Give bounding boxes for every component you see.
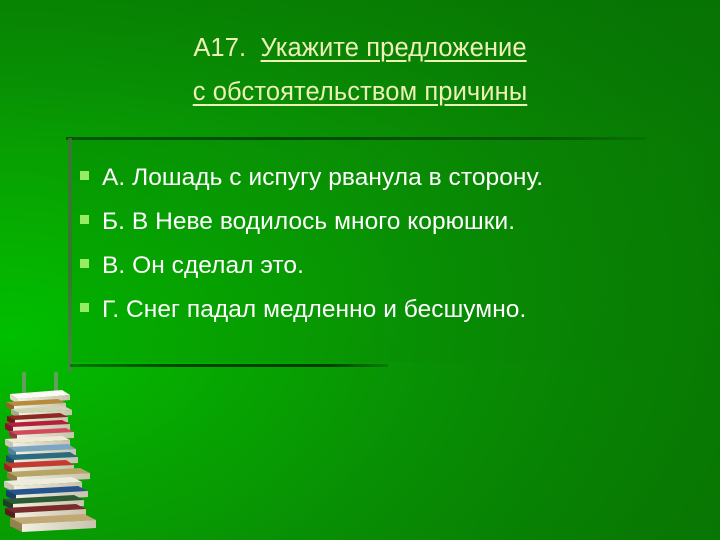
divider-bottom bbox=[70, 364, 388, 367]
list-item[interactable]: А. Лошадь с испугу рванула в сторону. bbox=[80, 163, 680, 207]
question-number: А17. bbox=[193, 34, 246, 62]
answer-option-b: Б. В Неве водилось много корюшки. bbox=[102, 207, 515, 237]
title-underlined-part-2: с обстоятельством причины bbox=[193, 78, 528, 106]
bullet-square-icon bbox=[80, 171, 89, 180]
answer-option-a: А. Лошадь с испугу рванула в сторону. bbox=[102, 163, 543, 193]
bullet-square-icon bbox=[80, 259, 89, 268]
slide-canvas: А17. Укажите предложение с обстоятельств… bbox=[0, 0, 720, 540]
title-underlined-part-1: Укажите предложение bbox=[261, 34, 527, 62]
slide-title: А17. Укажите предложение с обстоятельств… bbox=[72, 28, 648, 113]
answer-option-g: Г. Снег падал медленно и бесшумно. bbox=[102, 295, 526, 325]
bullet-square-icon bbox=[80, 303, 89, 312]
answer-option-v: В. Он сделал это. bbox=[102, 251, 304, 281]
title-line-1: А17. Укажите предложение bbox=[72, 28, 648, 69]
answer-list: А. Лошадь с испугу рванула в сторону. Б.… bbox=[80, 163, 680, 339]
list-item[interactable]: В. Он сделал это. bbox=[80, 251, 680, 295]
divider-left-vertical bbox=[68, 138, 72, 372]
divider-top bbox=[66, 137, 646, 140]
stack-of-books-image bbox=[2, 372, 110, 540]
title-line-2: с обстоятельством причины bbox=[72, 72, 648, 113]
list-item[interactable]: Б. В Неве водилось много корюшки. bbox=[80, 207, 680, 251]
list-item[interactable]: Г. Снег падал медленно и бесшумно. bbox=[80, 295, 680, 339]
bullet-square-icon bbox=[80, 215, 89, 224]
